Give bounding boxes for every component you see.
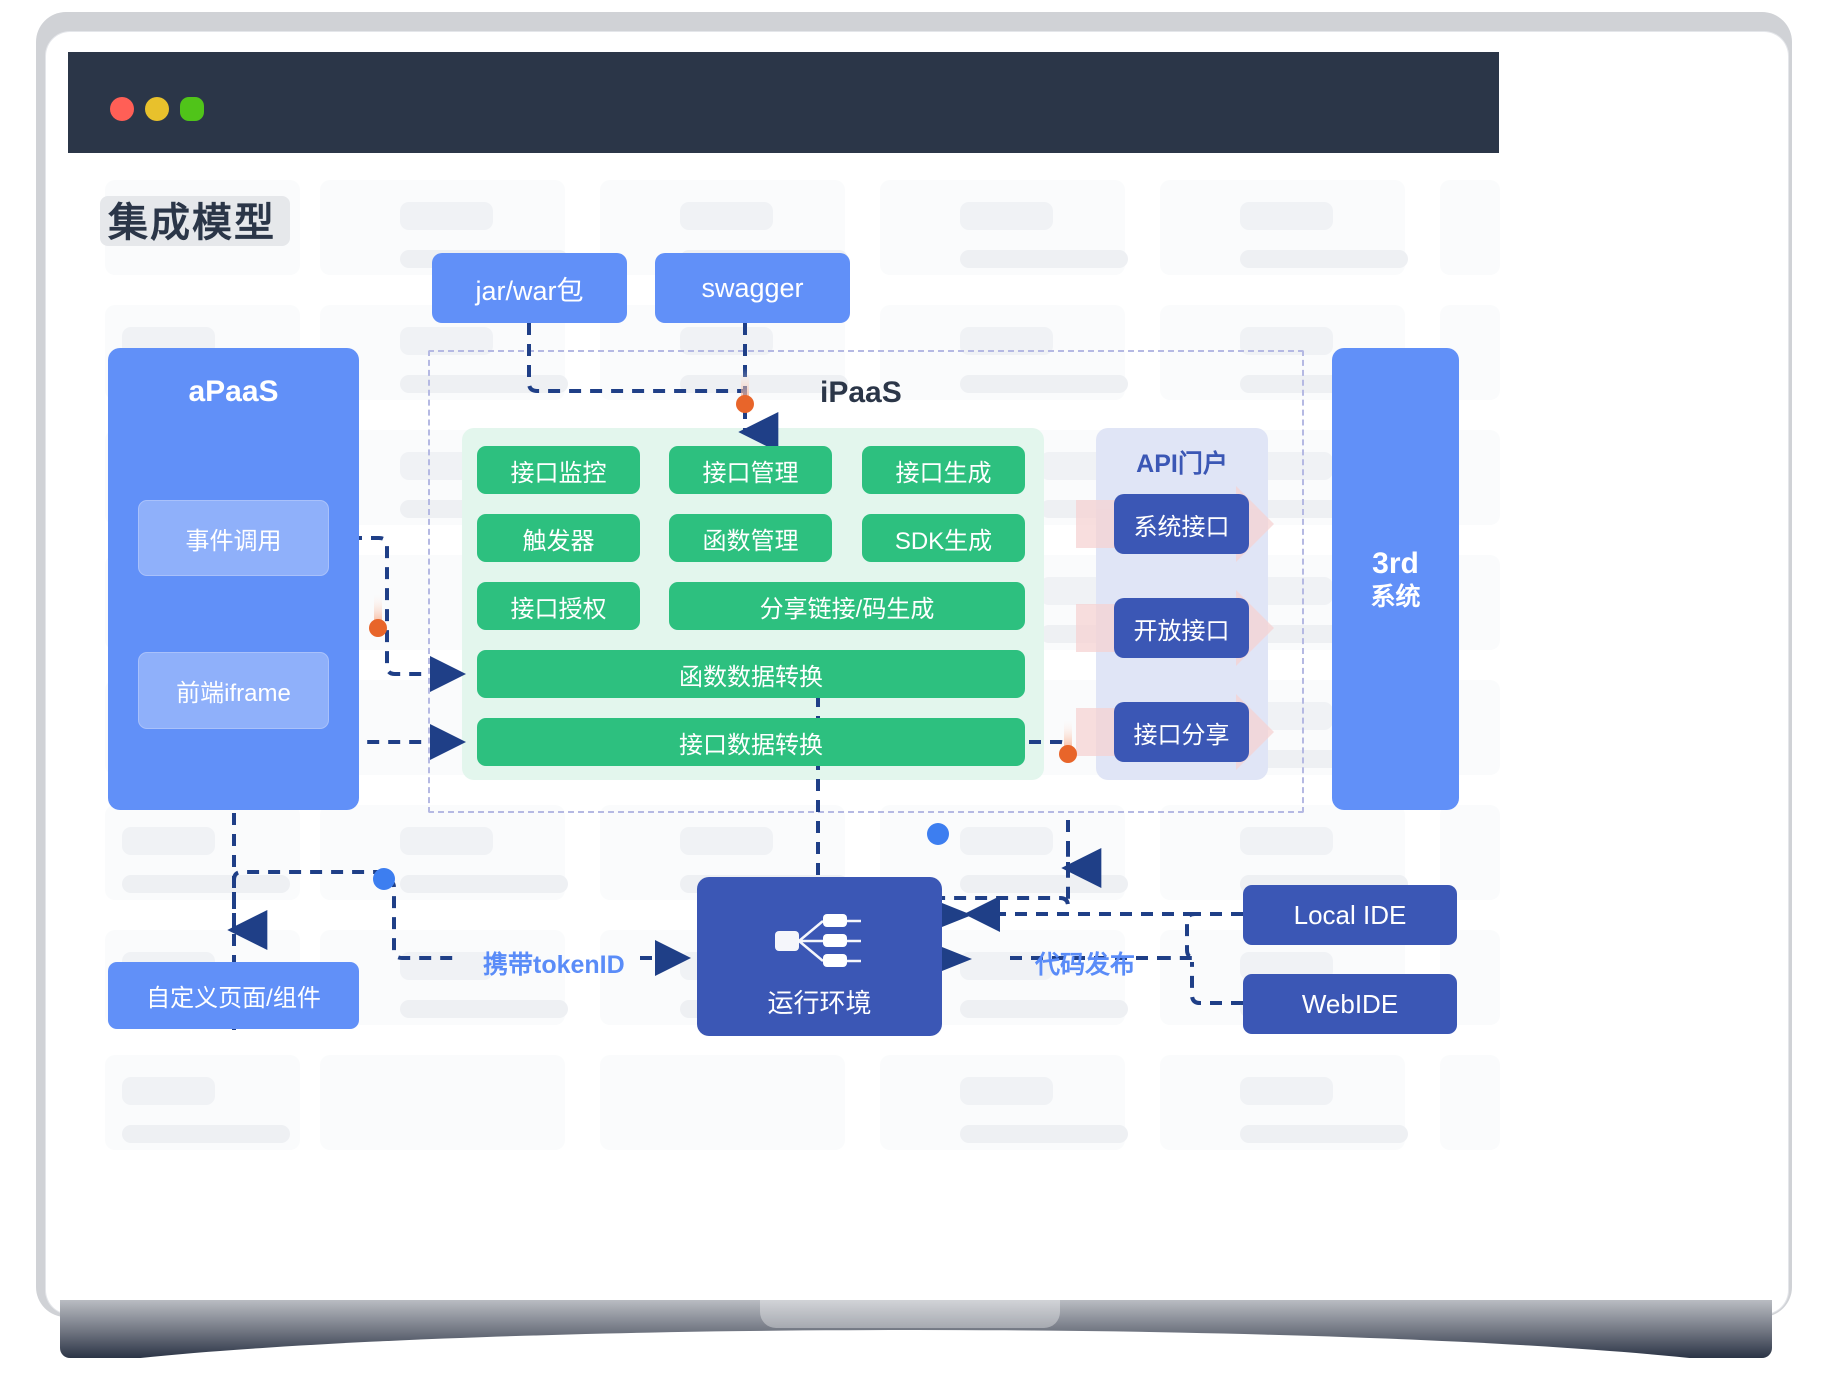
edge-label-publish: 代码发布 [1035,945,1135,981]
laptop-notch [760,1300,1060,1328]
jar-war-package-box[interactable]: jar/war包 [432,253,627,323]
ipaas-tile-api-monitor[interactable]: 接口监控 [477,446,640,494]
ipaas-tile-func-manage[interactable]: 函数管理 [669,514,832,562]
ipaas-tile-api-manage[interactable]: 接口管理 [669,446,832,494]
api-portal-item-open-api[interactable]: 开放接口 [1114,598,1249,658]
minimize-traffic-light-icon[interactable] [145,97,169,121]
ipaas-tile-api-generate[interactable]: 接口生成 [862,446,1025,494]
apaas-title: aPaaS [108,375,359,409]
ipaas-label: iPaaS [820,376,902,410]
third-party-line2: 系统 [1370,582,1420,613]
runtime-label: 运行环境 [767,983,871,1020]
screenshot-stage: 集成模型 iPaaS API门户 [0,0,1830,1397]
apaas-item-event-call[interactable]: 事件调用 [138,500,329,576]
ipaas-tile-trigger[interactable]: 触发器 [477,514,640,562]
api-portal-item-api-share[interactable]: 接口分享 [1114,702,1249,762]
close-traffic-light-icon[interactable] [110,97,134,121]
api-portal-item-system-api[interactable]: 系统接口 [1114,494,1249,554]
ipaas-tile-func-data-transform[interactable]: 函数数据转换 [477,650,1025,698]
ipaas-tile-sdk-generate[interactable]: SDK生成 [862,514,1025,562]
browser-title-bar [68,52,1499,153]
web-ide-box[interactable]: WebIDE [1243,974,1457,1034]
third-party-line1: 3rd [1372,545,1419,583]
api-portal-title: API门户 [1096,444,1268,480]
maximize-traffic-light-icon[interactable] [180,97,204,121]
swagger-box[interactable]: swagger [655,253,850,323]
ipaas-tile-share-link[interactable]: 分享链接/码生成 [669,582,1025,630]
page-title: 集成模型 [108,190,276,248]
ipaas-tile-api-auth[interactable]: 接口授权 [477,582,640,630]
local-ide-box[interactable]: Local IDE [1243,885,1457,945]
apaas-panel[interactable] [108,348,359,810]
apaas-item-front-iframe[interactable]: 前端iframe [138,652,329,729]
third-party-system-box[interactable]: 3rd 系统 [1332,348,1459,810]
custom-page-component-box[interactable]: 自定义页面/组件 [108,962,359,1029]
runtime-topology-icon [765,905,875,977]
edge-label-token: 携带tokenID [483,945,625,981]
ipaas-tile-api-data-transform[interactable]: 接口数据转换 [477,718,1025,766]
